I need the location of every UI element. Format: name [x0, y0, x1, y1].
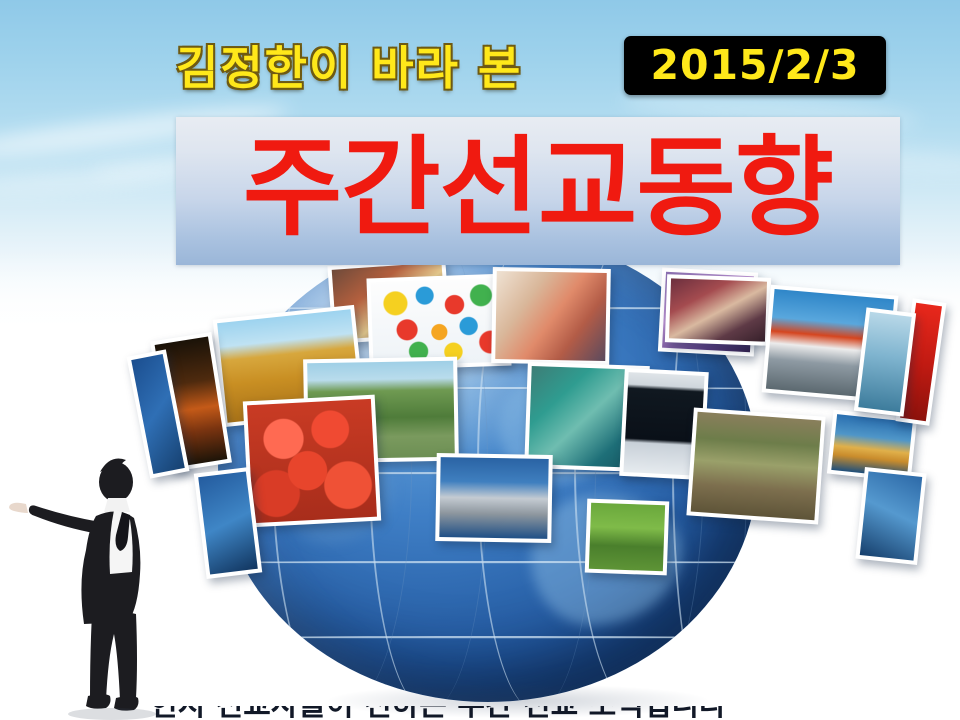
date-text: 2015/2/3 — [650, 45, 859, 86]
slide-canvas: 김정한이 바라 본 2015/2/3 주간선교동향 현지 선교사들이 전하는 주… — [0, 0, 960, 720]
title-plate: 주간선교동향 — [176, 117, 900, 265]
blue-panel-photo-3 — [855, 467, 926, 565]
businessman-arms-outstretched — [4, 446, 174, 720]
colorful-candy-pills-photo — [366, 274, 511, 371]
candy-photo-surface — [371, 278, 508, 367]
blue3-photo-surface — [860, 471, 922, 560]
bamboo-hut-photo — [686, 408, 825, 525]
kicker-text: 김정한이 바라 본 — [176, 32, 522, 98]
hut-photo-surface — [691, 412, 822, 520]
blue2-photo-surface — [198, 471, 258, 574]
construction-crane-photo — [435, 453, 553, 543]
people-gathering-photo — [665, 274, 771, 346]
people-photo-surface — [669, 278, 767, 341]
grass-lawn-photo — [585, 499, 670, 576]
grass-photo-surface — [589, 503, 665, 572]
tomato-photo-surface — [247, 399, 377, 523]
lab-photo-surface — [495, 271, 607, 361]
red-tomatoes-photo — [243, 395, 381, 528]
date-badge: 2015/2/3 — [624, 36, 886, 95]
page-title: 주간선교동향 — [243, 135, 833, 243]
laboratory-researcher-photo — [491, 267, 611, 365]
bottom-caption-text: 현지 선교사들이 전하는 주간 선교 소식입니다 — [150, 706, 727, 720]
bottom-cutoff-strip: 현지 선교사들이 전하는 주간 선교 소식입니다 — [0, 706, 960, 720]
crane-photo-surface — [439, 457, 548, 539]
teal-photo-surface — [858, 312, 911, 412]
